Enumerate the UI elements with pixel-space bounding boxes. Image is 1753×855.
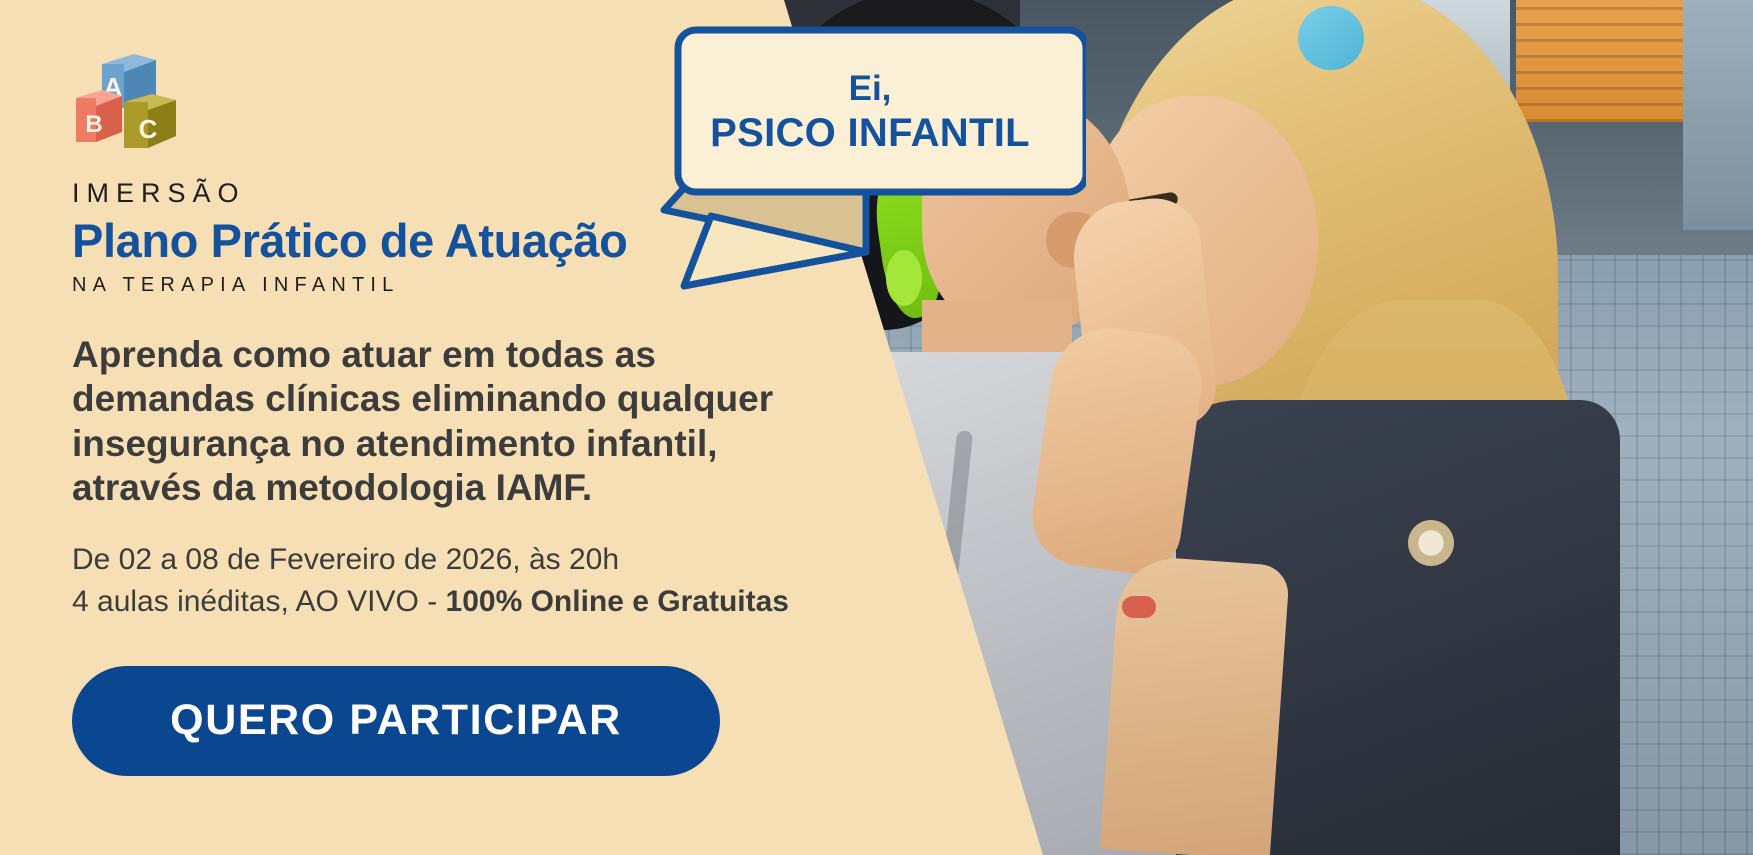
photo-right-wall [1683,0,1753,230]
schedule-classes-prefix: 4 aulas inéditas, AO VIVO - [72,585,446,618]
headline: Aprenda como atuar em todas as demandas … [72,333,842,511]
speech-bubble-shape [626,20,1086,290]
schedule-classes-highlight: 100% Online e Gratuitas [446,585,789,618]
headline-line-4: através da metodologia IAMF. [72,466,842,510]
headline-line-1: Aprenda como atuar em todas as [72,333,842,377]
headline-line-2: demandas clínicas eliminando qualquer [72,377,842,421]
svg-text:C: C [139,114,158,144]
abc-blocks-icon: A B C [72,48,192,156]
schedule-info: De 02 a 08 de Fevereiro de 2026, às 20h … [72,539,900,624]
girl-hair-clip [1298,6,1364,70]
speech-bubble: Ei, PSICO INFANTIL [626,20,1086,290]
schedule-dates: De 02 a 08 de Fevereiro de 2026, às 20h [72,539,900,582]
girl-fingernail [1122,596,1156,618]
schedule-classes: 4 aulas inéditas, AO VIVO - 100% Online … [72,581,900,624]
promo-banner: A B C IMERSÃO Plano Prático de [0,0,1753,855]
svg-text:B: B [85,111,102,138]
headline-line-3: insegurança no atendimento infantil, [72,422,842,466]
quero-participar-button[interactable]: QUERO PARTICIPAR [72,666,720,776]
photo-orange-panel [1516,0,1691,122]
girl-shirt-flower [1408,520,1454,566]
